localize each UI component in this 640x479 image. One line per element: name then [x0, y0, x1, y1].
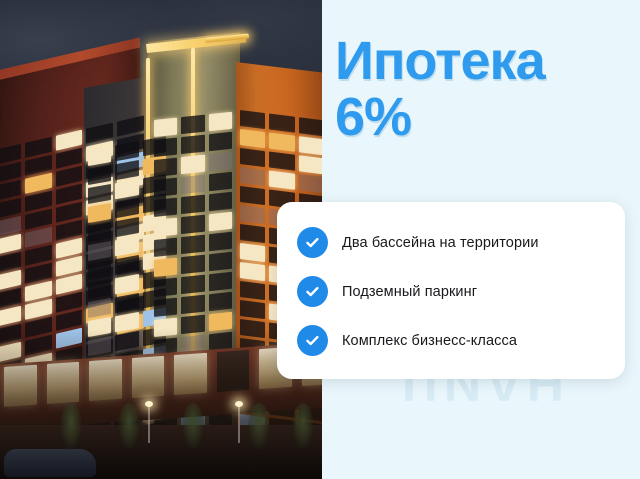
feature-label: Подземный паркинг	[342, 284, 477, 300]
feature-item: Комплекс бизнесс-класса	[277, 316, 625, 365]
feature-item: Два бассейна на территории	[277, 218, 625, 267]
street-lamp	[148, 405, 150, 443]
street-tree	[118, 403, 140, 449]
features-card: Два бассейна на территории Подземный пар…	[277, 202, 625, 379]
promo-headline: Ипотека 6%	[335, 33, 635, 145]
mortgage-ad-banner: Ипотека 6% ЦИАН Два бассейна на территор…	[0, 0, 640, 479]
building-photo	[0, 0, 322, 479]
street-lamp	[238, 405, 240, 443]
street-tree	[60, 403, 82, 449]
feature-label: Два бассейна на территории	[342, 235, 539, 251]
feature-label: Комплекс бизнесс-класса	[342, 333, 517, 349]
check-circle-icon	[297, 276, 328, 307]
check-circle-icon	[297, 325, 328, 356]
street-tree	[182, 403, 204, 449]
street-tree	[248, 403, 270, 449]
feature-item: Подземный паркинг	[277, 267, 625, 316]
promo-pane: Ипотека 6% ЦИАН Два бассейна на территор…	[322, 0, 640, 479]
street-tree	[292, 403, 314, 449]
check-circle-icon	[297, 227, 328, 258]
mortgage-rate: 6%	[335, 89, 635, 145]
parked-car	[4, 449, 96, 477]
headline-word: Ипотека	[335, 31, 545, 91]
